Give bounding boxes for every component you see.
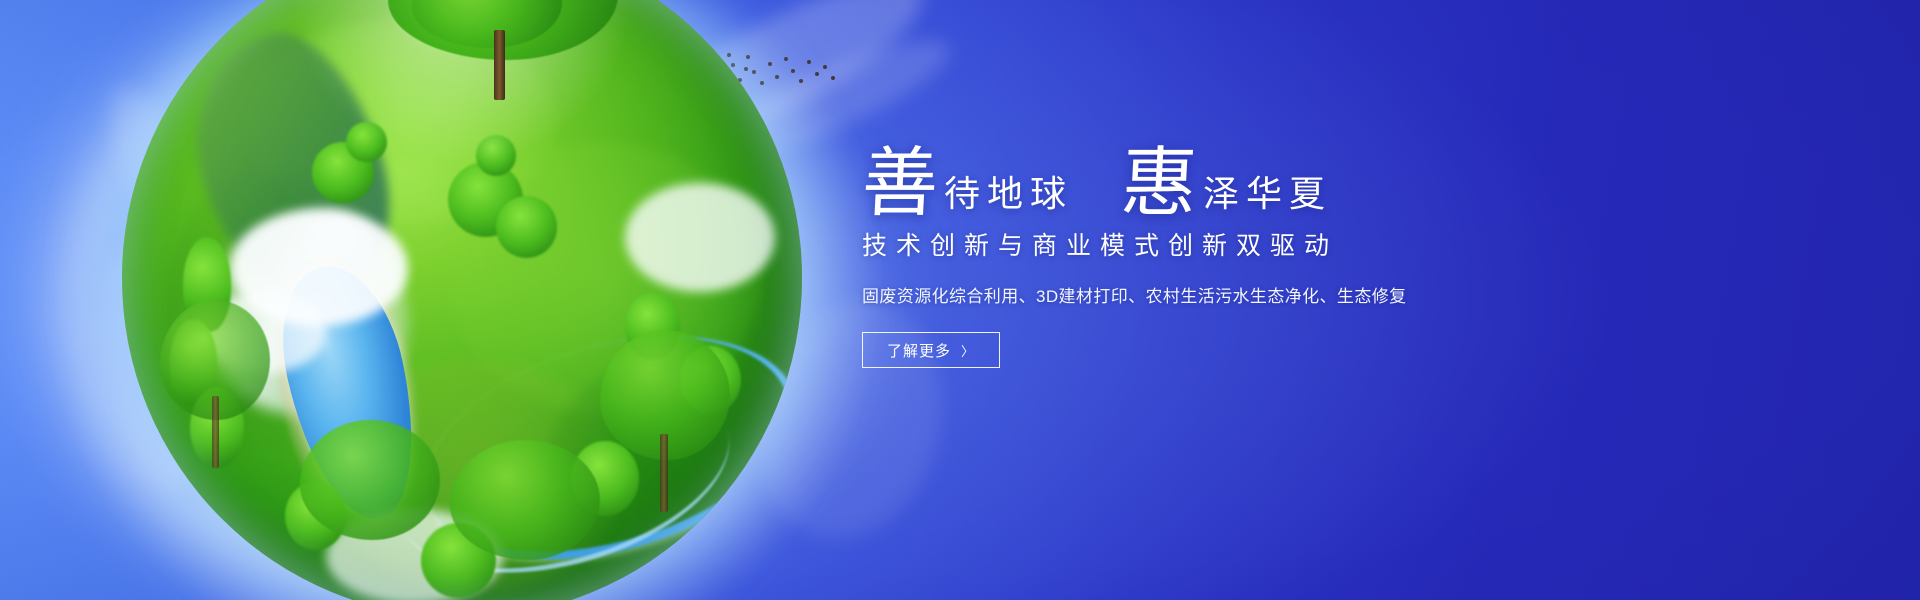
headline: 善 待地球 惠 泽华夏: [862, 128, 1562, 220]
hero-subtitle: 技术创新与商业模式创新双驱动: [862, 226, 1562, 262]
headline-big-char-2: 惠: [1119, 150, 1199, 220]
hero-banner: 善 待地球 惠 泽华夏 技术创新与商业模式创新双驱动 固废资源化综合利用、3D建…: [0, 0, 1920, 600]
learn-more-button[interactable]: 了解更多 〉: [862, 332, 1000, 368]
headline-phrase-2: 惠 泽华夏: [1121, 150, 1332, 220]
hero-text-block: 善 待地球 惠 泽华夏 技术创新与商业模式创新双驱动 固废资源化综合利用、3D建…: [862, 128, 1562, 368]
learn-more-label: 了解更多: [887, 340, 951, 361]
headline-small-chars-1: 待地球: [944, 176, 1073, 220]
chevron-right-icon: 〉: [961, 341, 975, 360]
headline-phrase-1: 善 待地球: [862, 150, 1073, 220]
headline-big-char-1: 善: [860, 150, 940, 220]
hero-description: 固废资源化综合利用、3D建材打印、农村生活污水生态净化、生态修复: [862, 282, 1562, 307]
headline-small-chars-2: 泽华夏: [1203, 176, 1332, 220]
